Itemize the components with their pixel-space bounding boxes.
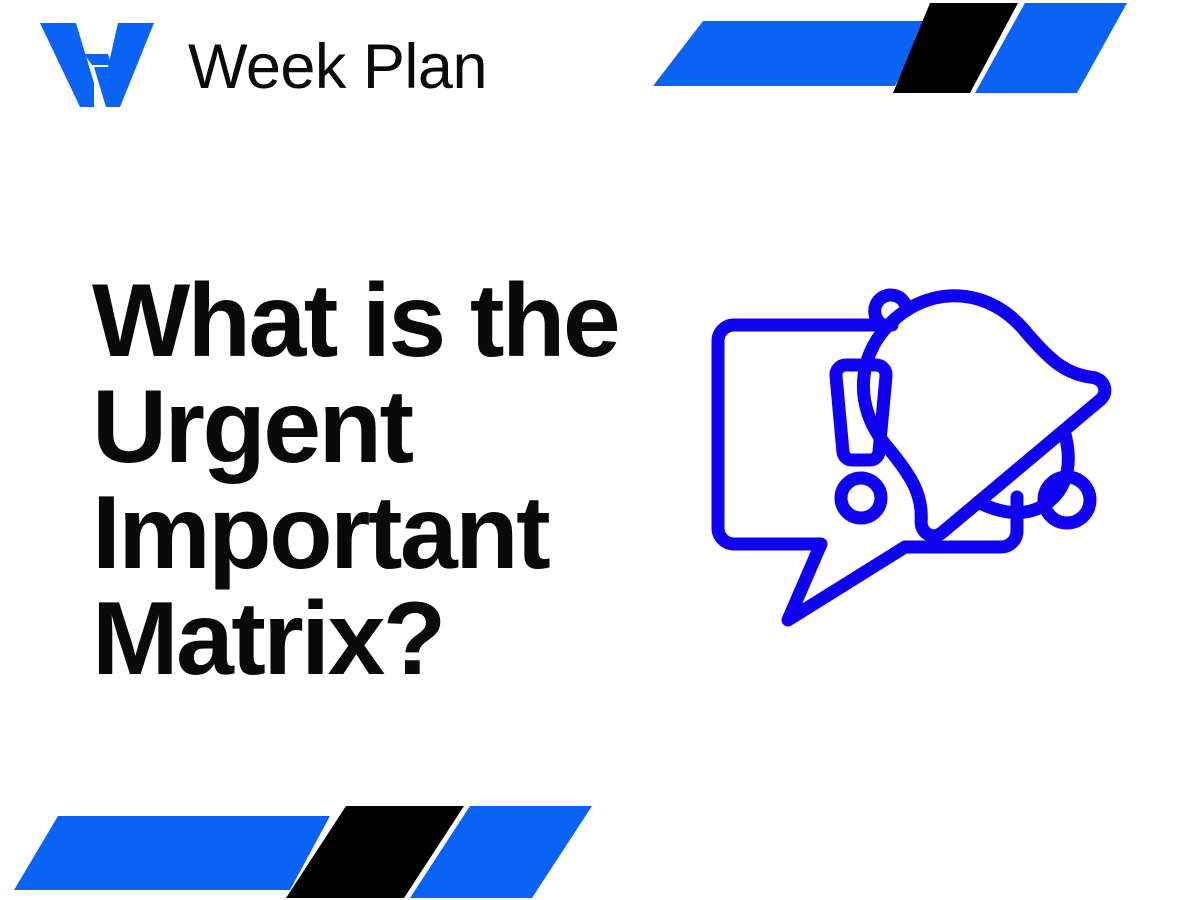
brand-lockup[interactable]: Week Plan: [32, 22, 487, 112]
headline-line-1: What is the: [92, 268, 692, 374]
speech-bubble-with-exclamation-and-notification-bell-icon: [700, 255, 1160, 655]
ribbon-stripe-long-blue: [653, 21, 930, 86]
brand-name: Week Plan: [188, 36, 487, 99]
ribbon-top-right: [640, 0, 1200, 110]
exclamation-dot-icon: [841, 478, 881, 518]
ribbon-stripe-long-blue: [14, 816, 330, 890]
headline-line-3: Important: [92, 480, 692, 586]
ribbon-bottom-left: [0, 790, 620, 900]
page-title: What is the Urgent Important Matrix?: [92, 268, 692, 692]
notification-bell-icon: [808, 255, 1110, 541]
slide-canvas: Week Plan What is the Urgent Important M…: [0, 0, 1200, 900]
headline-line-4: Matrix?: [92, 586, 692, 692]
headline-line-2: Urgent: [92, 374, 692, 480]
week-plan-w-logo-icon: [32, 21, 164, 113]
